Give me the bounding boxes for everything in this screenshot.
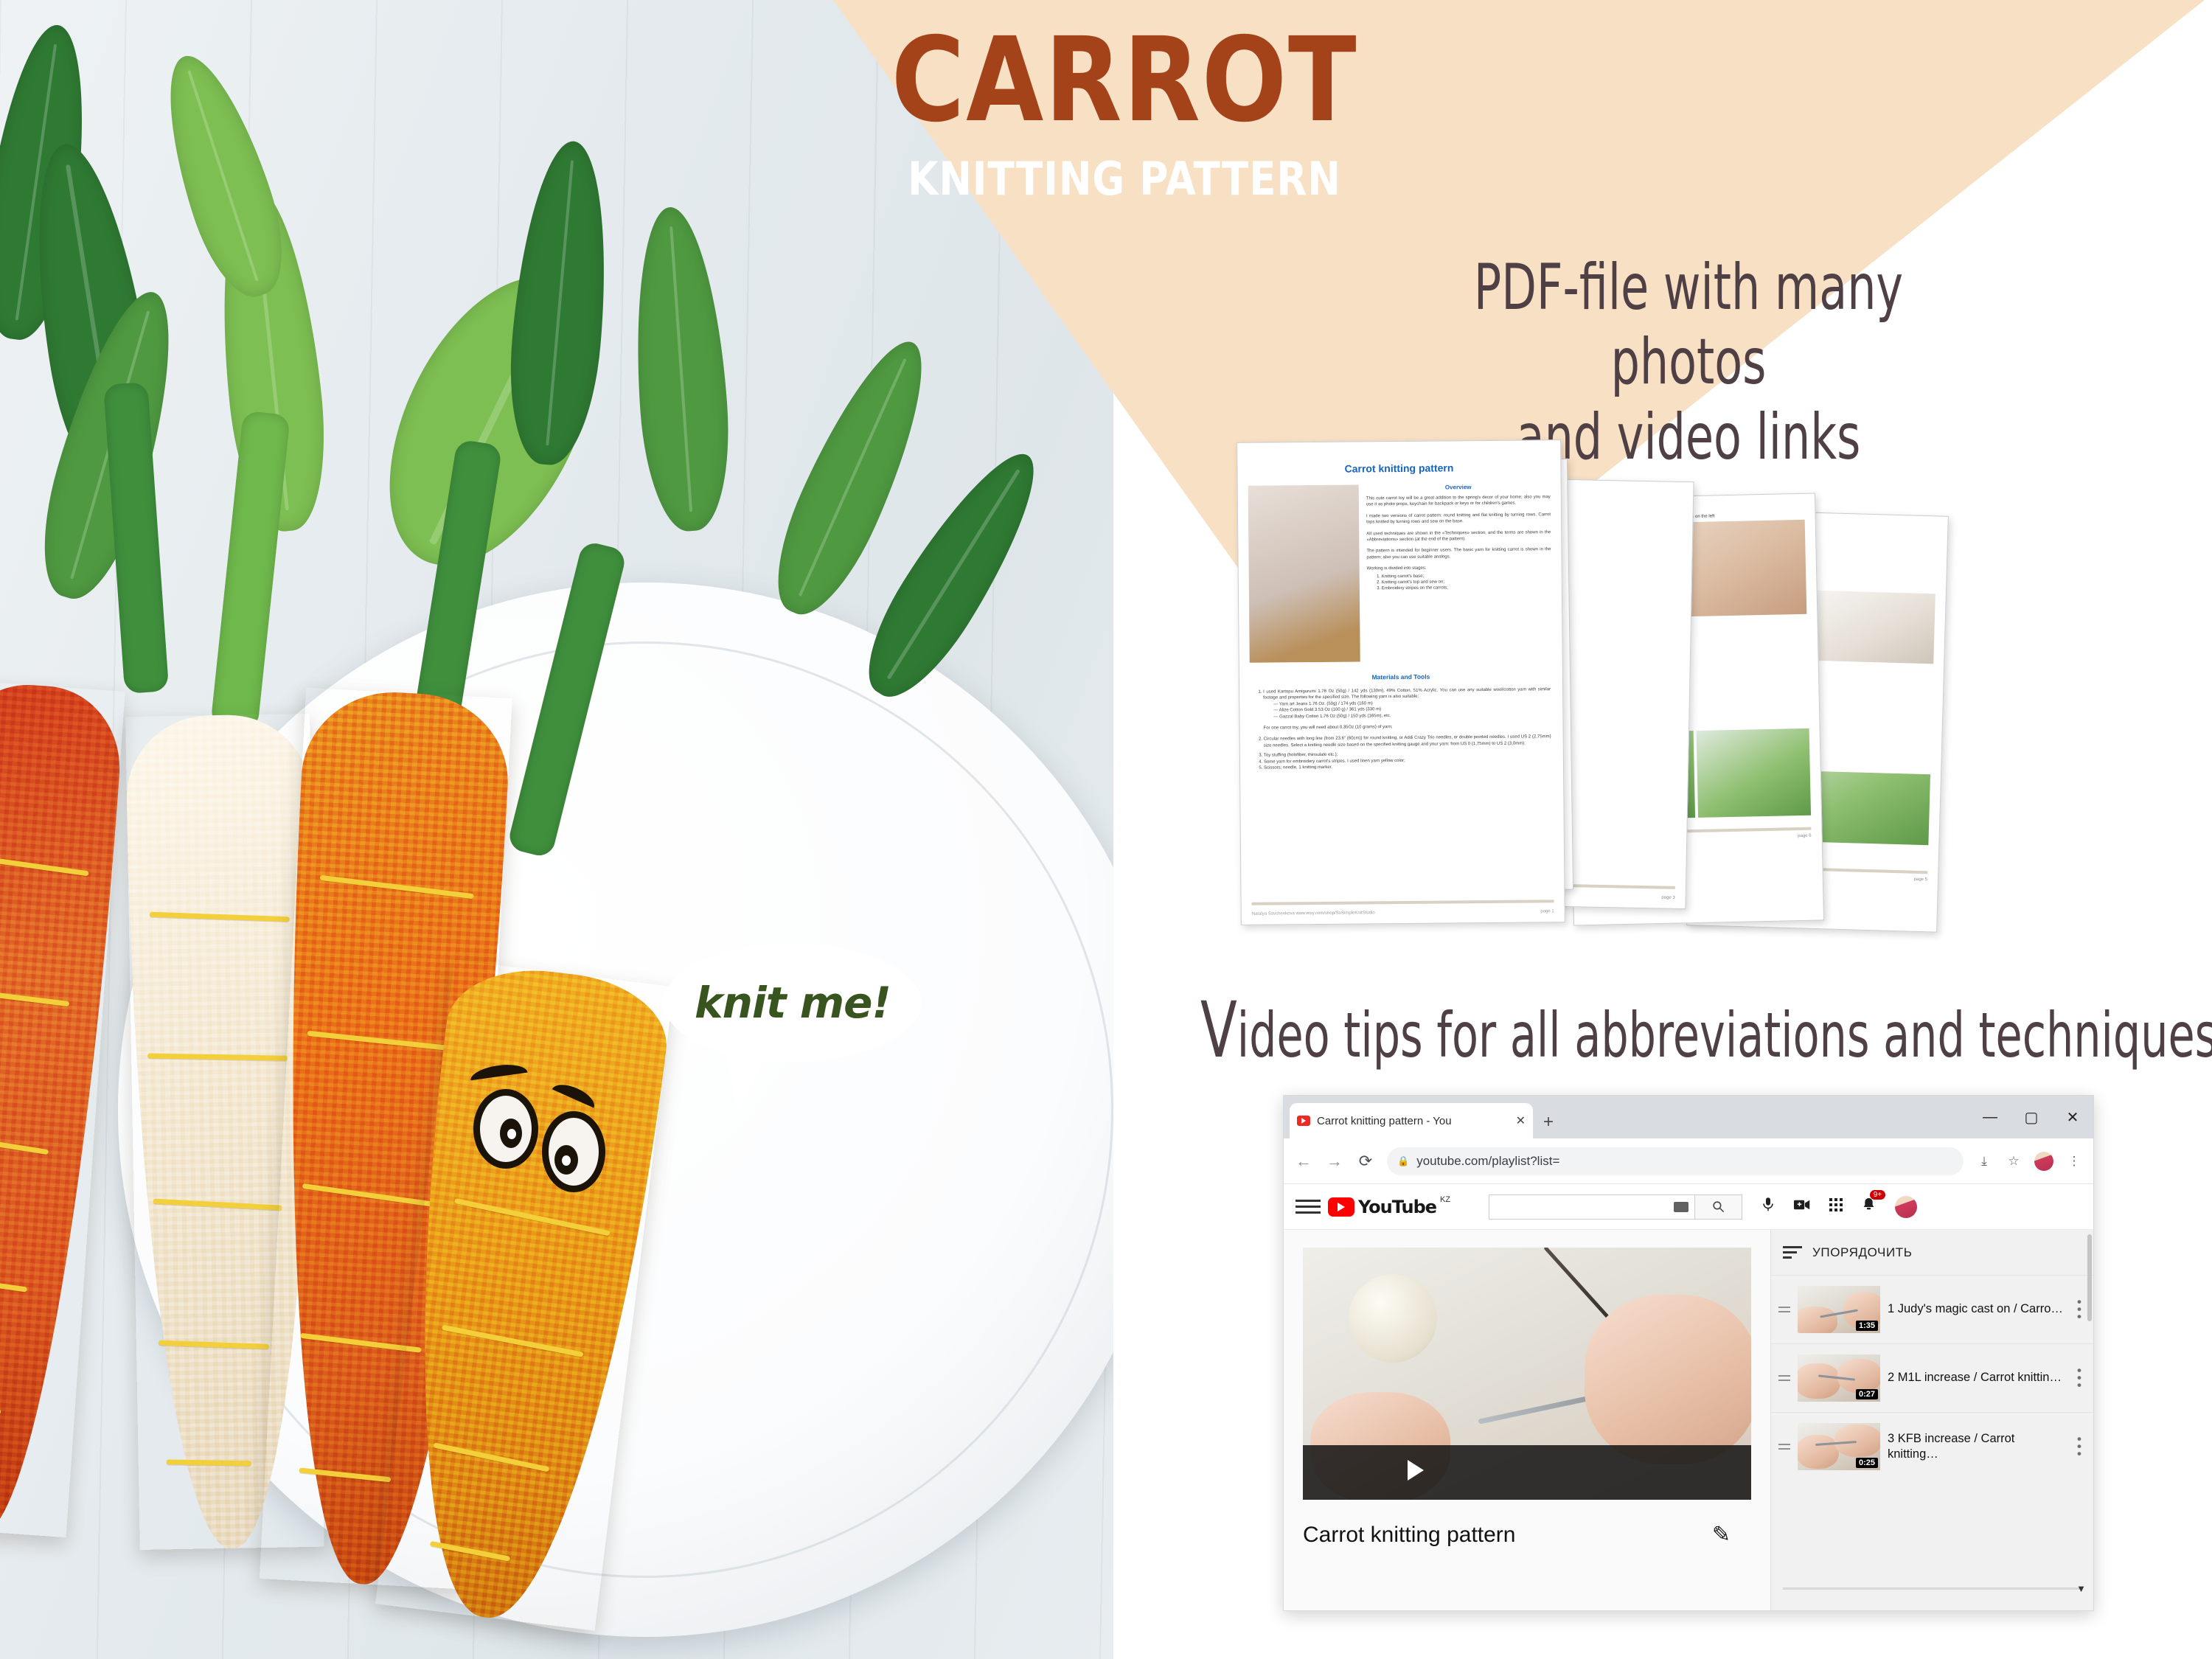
notifications-bell-icon[interactable]: 9+ xyxy=(1862,1197,1876,1217)
pdf1-m1d: For one carrot toy, you will need about … xyxy=(1263,723,1551,731)
drag-handle-icon[interactable] xyxy=(1778,1304,1790,1315)
playlist-item-title: 1 Judy's magic cast on / Carro… xyxy=(1888,1301,2065,1317)
sort-label: УПОРЯДОЧИТЬ xyxy=(1812,1245,1913,1260)
close-tab-icon[interactable]: ✕ xyxy=(1516,1113,1526,1128)
pdf1-stage: Embroidery stripes on the carrots; xyxy=(1382,585,1551,592)
page-title: CARROT xyxy=(887,22,1363,139)
video-heading-cap: V xyxy=(1200,985,1237,1075)
edit-pencil-icon[interactable]: ✎ xyxy=(1712,1522,1731,1548)
address-bar-url: youtube.com/playlist?list= xyxy=(1416,1154,1559,1169)
back-button[interactable]: ← xyxy=(1294,1152,1313,1171)
create-video-icon[interactable] xyxy=(1794,1199,1810,1215)
pdf-page-stack: ether). e end of row (5 stitches decreas… xyxy=(1217,428,2146,959)
youtube-favicon-icon xyxy=(1297,1116,1310,1126)
youtube-masthead: YouTube KZ xyxy=(1284,1184,2093,1230)
speech-bubble-text: knit me! xyxy=(695,978,891,1028)
drag-handle-icon[interactable] xyxy=(1778,1441,1790,1453)
pdf1-m2: Circular needles with long line (from 23… xyxy=(1264,734,1551,749)
playlist-thumbnail[interactable]: 0:27 xyxy=(1798,1354,1880,1402)
youtube-logo[interactable]: YouTube KZ xyxy=(1328,1197,1450,1217)
yarn-ball-image xyxy=(1349,1274,1437,1363)
playlist-sidebar: УПОРЯДОЧИТЬ 1:35 1 Judy's magic cast on … xyxy=(1770,1230,2093,1611)
playlist-item[interactable]: 1:35 1 Judy's magic cast on / Carro… ••• xyxy=(1771,1275,2093,1343)
video-player-column: Carrot knitting pattern ✎ xyxy=(1284,1230,1770,1611)
youtube-account-avatar[interactable] xyxy=(1895,1196,1917,1218)
pdf1-title: Carrot knitting pattern xyxy=(1237,440,1560,486)
playlist-thumbnail[interactable]: 0:25 xyxy=(1798,1423,1880,1470)
search-button[interactable] xyxy=(1695,1194,1742,1220)
playlist-item-menu-icon[interactable]: ••• xyxy=(2073,1436,2086,1458)
pdf1-p3: All used techniques are shown in the «Te… xyxy=(1366,529,1551,543)
playlist-thumbnail[interactable]: 1:35 xyxy=(1798,1286,1880,1333)
youtube-country-code: KZ xyxy=(1440,1195,1450,1204)
youtube-play-icon xyxy=(1328,1197,1354,1217)
install-app-icon[interactable]: ⤓ xyxy=(1975,1154,1993,1169)
apps-grid-icon[interactable] xyxy=(1829,1198,1843,1216)
pdf5-photo-b xyxy=(1816,591,1935,664)
pdf1-footer-right: page 1 xyxy=(1540,908,1554,915)
pdf3-footer-right: page 3 xyxy=(1661,894,1675,901)
hamburger-menu-icon[interactable] xyxy=(1295,1196,1321,1217)
pdf1-footer-left: Natalya Savchenkova www.etsy.com/shop/So… xyxy=(1252,910,1375,917)
player-control-bar[interactable] xyxy=(1303,1445,1751,1500)
eye-glint-right xyxy=(562,1155,571,1166)
youtube-content: Carrot knitting pattern ✎ УПОРЯДОЧИТЬ xyxy=(1284,1230,2093,1611)
sort-icon[interactable] xyxy=(1783,1243,1802,1262)
eye-glint-left xyxy=(507,1129,516,1139)
close-window-button[interactable]: ✕ xyxy=(2052,1108,2093,1127)
notification-badge: 9+ xyxy=(1870,1190,1885,1200)
pdf1-p5: Working is divided into stages: xyxy=(1367,564,1551,572)
video-player[interactable] xyxy=(1303,1248,1751,1500)
lock-icon: 🔒 xyxy=(1397,1155,1409,1167)
eyebrow-left xyxy=(469,1062,529,1092)
page-subtitle: KNITTING PATTERN xyxy=(887,152,1363,206)
playlist-item-duration: 0:25 xyxy=(1856,1458,1878,1468)
pdf4-footer-right: page 6 xyxy=(1798,832,1812,839)
playlist-item-menu-icon[interactable]: ••• xyxy=(2073,1298,2086,1321)
maximize-button[interactable]: ▢ xyxy=(2011,1108,2052,1127)
hand-image xyxy=(1585,1295,1751,1464)
playlist-item-menu-icon[interactable]: ••• xyxy=(2073,1367,2086,1390)
pdf1-p2: I made two versions of carrot pattern: r… xyxy=(1366,512,1551,526)
speech-bubble: knit me! xyxy=(664,944,922,1062)
chevron-down-icon[interactable]: ▼ xyxy=(2076,1583,2086,1594)
pdf1-overview-heading: Overview xyxy=(1366,483,1551,491)
playlist-sort-header[interactable]: УПОРЯДОЧИТЬ xyxy=(1771,1243,2093,1275)
pdf-page-1[interactable]: Carrot knitting pattern Overview This cu… xyxy=(1237,439,1565,925)
playlist-footer-bar xyxy=(1783,1587,2081,1590)
playlist-item-title: 3 KFB increase / Carrot knitting… xyxy=(1888,1431,2065,1462)
browser-tab[interactable]: Carrot knitting pattern - You ✕ xyxy=(1290,1103,1533,1138)
browser-tab-title: Carrot knitting pattern - You xyxy=(1317,1115,1509,1127)
hero-title-block: CARROT KNITTING PATTERN xyxy=(848,22,1401,206)
playlist-item-title: 2 M1L increase / Carrot knittin… xyxy=(1888,1370,2065,1385)
pdf1-p4: The pattern is intended for beginner use… xyxy=(1366,547,1551,561)
pdf1-materials-heading: Materials and Tools xyxy=(1239,672,1562,682)
poster-root: knit me! CARROT KNITTING PATTERN PDF-fil… xyxy=(0,0,2212,1659)
address-bar[interactable]: 🔒 youtube.com/playlist?list= xyxy=(1387,1147,1964,1175)
keyboard-icon[interactable] xyxy=(1674,1202,1688,1212)
video-title: Carrot knitting pattern xyxy=(1303,1523,1515,1548)
browser-window: Carrot knitting pattern - You ✕ + — ▢ ✕ … xyxy=(1283,1095,2094,1611)
playlist-scrollbar-thumb[interactable] xyxy=(2087,1234,2092,1321)
playlist-item[interactable]: 0:25 3 KFB increase / Carrot knitting… •… xyxy=(1771,1412,2093,1481)
window-controls: — ▢ ✕ xyxy=(1969,1096,2093,1138)
youtube-search xyxy=(1489,1194,1742,1220)
new-tab-button[interactable]: + xyxy=(1543,1112,1554,1133)
browser-tab-strip: Carrot knitting pattern - You ✕ + — ▢ ✕ xyxy=(1284,1096,2093,1138)
microphone-icon[interactable] xyxy=(1761,1197,1775,1217)
profile-avatar[interactable] xyxy=(2034,1152,2053,1171)
youtube-wordmark: YouTube xyxy=(1358,1197,1436,1217)
drag-handle-icon[interactable] xyxy=(1778,1372,1790,1384)
pdf5-footer-right: page 5 xyxy=(1914,877,1928,883)
video-title-row: Carrot knitting pattern ✎ xyxy=(1303,1522,1731,1548)
reload-button[interactable]: ⟳ xyxy=(1356,1152,1375,1171)
carrot-photo: knit me! xyxy=(0,0,1113,1659)
playlist-item[interactable]: 0:27 2 M1L increase / Carrot knittin… ••… xyxy=(1771,1343,2093,1412)
bookmark-star-icon[interactable]: ☆ xyxy=(2005,1154,2023,1169)
pdf1-p1: This cute carrot toy will be a great add… xyxy=(1366,494,1551,508)
pdf1-photo-child xyxy=(1248,484,1360,662)
cartoon-face xyxy=(465,1065,664,1224)
pdf4-photo-c xyxy=(1697,728,1811,817)
search-input[interactable] xyxy=(1489,1194,1695,1220)
minimize-button[interactable]: — xyxy=(1969,1109,2011,1126)
playlist-item-duration: 0:27 xyxy=(1856,1389,1878,1399)
browser-menu-icon[interactable]: ⋮ xyxy=(2065,1154,2083,1169)
pdf-heading-line1: PDF-file with many photos xyxy=(1391,251,1986,400)
browser-toolbar: ← → ⟳ 🔒 youtube.com/playlist?list= ⤓ ☆ ⋮ xyxy=(1284,1138,2093,1184)
video-feature-heading: Video tips for all abbreviations and tec… xyxy=(1200,992,1985,1068)
playlist-item-duration: 1:35 xyxy=(1856,1321,1878,1331)
play-button-icon[interactable] xyxy=(1408,1460,1424,1481)
forward-button[interactable]: → xyxy=(1325,1152,1344,1171)
video-heading-rest: ideo tips for all abbreviations and tech… xyxy=(1237,999,2212,1071)
